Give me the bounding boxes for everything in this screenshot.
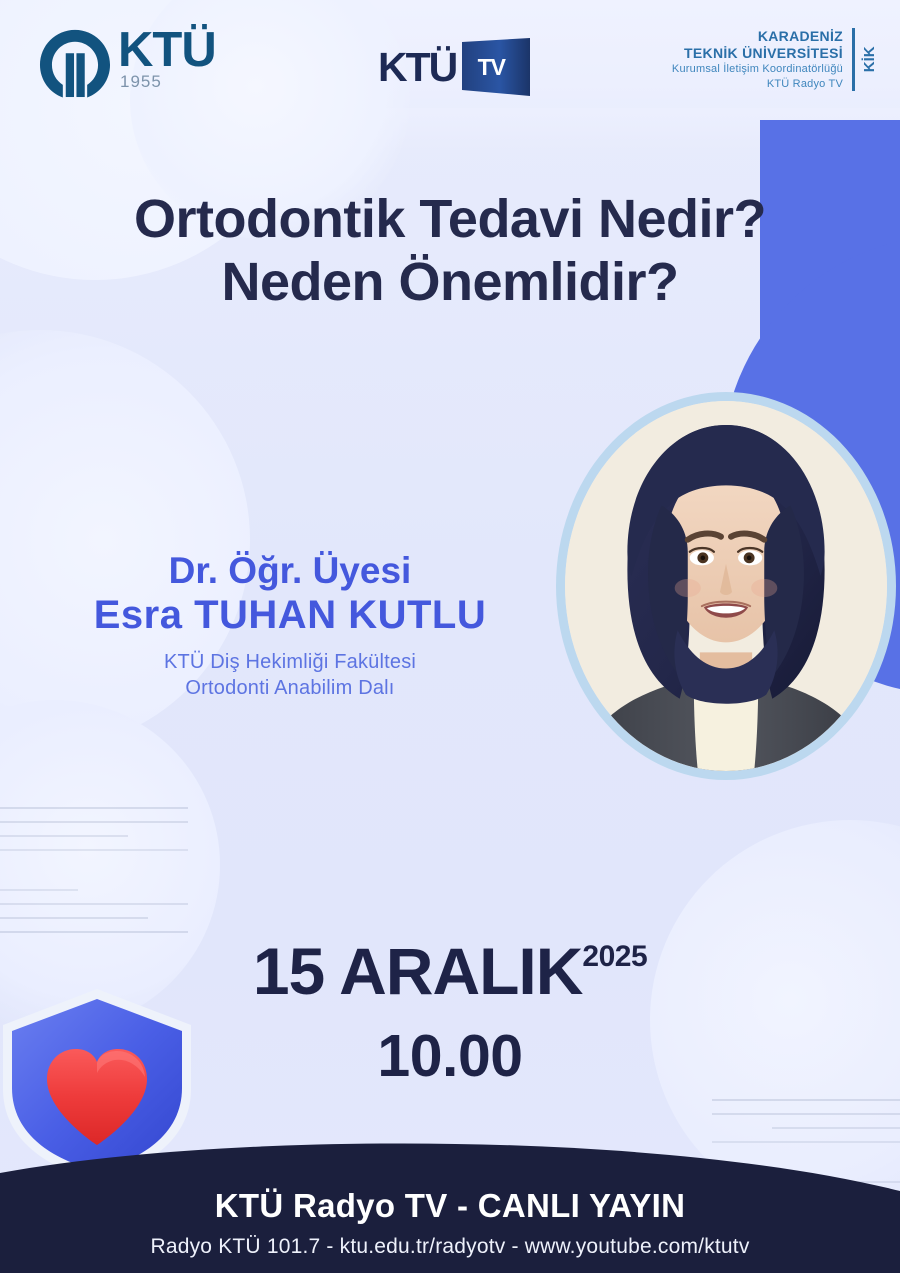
kik-vertical-abbr: KİK xyxy=(861,28,878,91)
speaker-academic-title: Dr. Öğr. Üyesi xyxy=(30,548,550,593)
kik-line-2: TEKNİK ÜNİVERSİTESİ xyxy=(672,45,843,62)
title-line-2: Neden Önemlidir? xyxy=(0,251,900,314)
tv-screen-icon: TV xyxy=(458,38,534,96)
footer-text-block: KTÜ Radyo TV - CANLI YAYIN Radyo KTÜ 101… xyxy=(0,1186,900,1259)
title-line-1: Ortodontik Tedavi Nedir? xyxy=(134,189,766,249)
kik-line-1: KARADENİZ xyxy=(672,28,843,45)
speaker-department-line-1: KTÜ Diş Hekimliği Fakültesi xyxy=(30,650,550,676)
portrait-ring xyxy=(556,392,896,780)
kik-line-4: KTÜ Radyo TV xyxy=(672,77,843,92)
speaker-portrait-illustration xyxy=(565,401,887,771)
kik-divider xyxy=(852,28,855,91)
speaker-photo xyxy=(556,392,896,780)
event-year: 2025 xyxy=(582,940,647,974)
loop-lines-ornament-left-icon xyxy=(0,800,188,950)
kik-logo-text-block: KARADENİZ TEKNİK ÜNİVERSİTESİ Kurumsal İ… xyxy=(672,28,852,91)
poster-header: KTÜ 1955 KTÜ TV xyxy=(0,0,900,120)
tv-screen-label: TV xyxy=(458,38,534,96)
event-date-row: 15 ARALIK 2025 xyxy=(253,938,647,1004)
poster-footer: KTÜ Radyo TV - CANLI YAYIN Radyo KTÜ 101… xyxy=(0,1133,900,1273)
ktu-ring-mark-icon xyxy=(36,26,114,98)
kik-line-3: Kurumsal İletişim Koordinatörlüğü xyxy=(672,62,843,77)
footer-main-text: KTÜ Radyo TV - CANLI YAYIN xyxy=(0,1186,900,1226)
ktu-tv-logo-text: KTÜ xyxy=(378,47,456,88)
event-date: 15 ARALIK xyxy=(253,938,583,1004)
footer-sub-text: Radyo KTÜ 101.7 - ktu.edu.tr/radyotv - w… xyxy=(0,1235,900,1259)
poster-title: Ortodontik Tedavi Nedir? Neden Önemlidir… xyxy=(0,188,900,313)
ktu-logo-year: 1955 xyxy=(120,72,162,92)
ktu-tv-logo: KTÜ TV xyxy=(378,38,534,96)
poster-canvas: KTÜ 1955 KTÜ TV xyxy=(0,0,900,1273)
speaker-name: Esra TUHAN KUTLU xyxy=(30,591,550,640)
speaker-info: Dr. Öğr. Üyesi Esra TUHAN KUTLU KTÜ Diş … xyxy=(30,548,550,701)
kik-coordination-logo: KARADENİZ TEKNİK ÜNİVERSİTESİ Kurumsal İ… xyxy=(672,28,878,91)
ktu-logo-abbr: KTÜ xyxy=(118,26,216,74)
speaker-department-line-2: Ortodonti Anabilim Dalı xyxy=(30,676,550,702)
ktu-university-logo: KTÜ 1955 xyxy=(36,26,216,98)
